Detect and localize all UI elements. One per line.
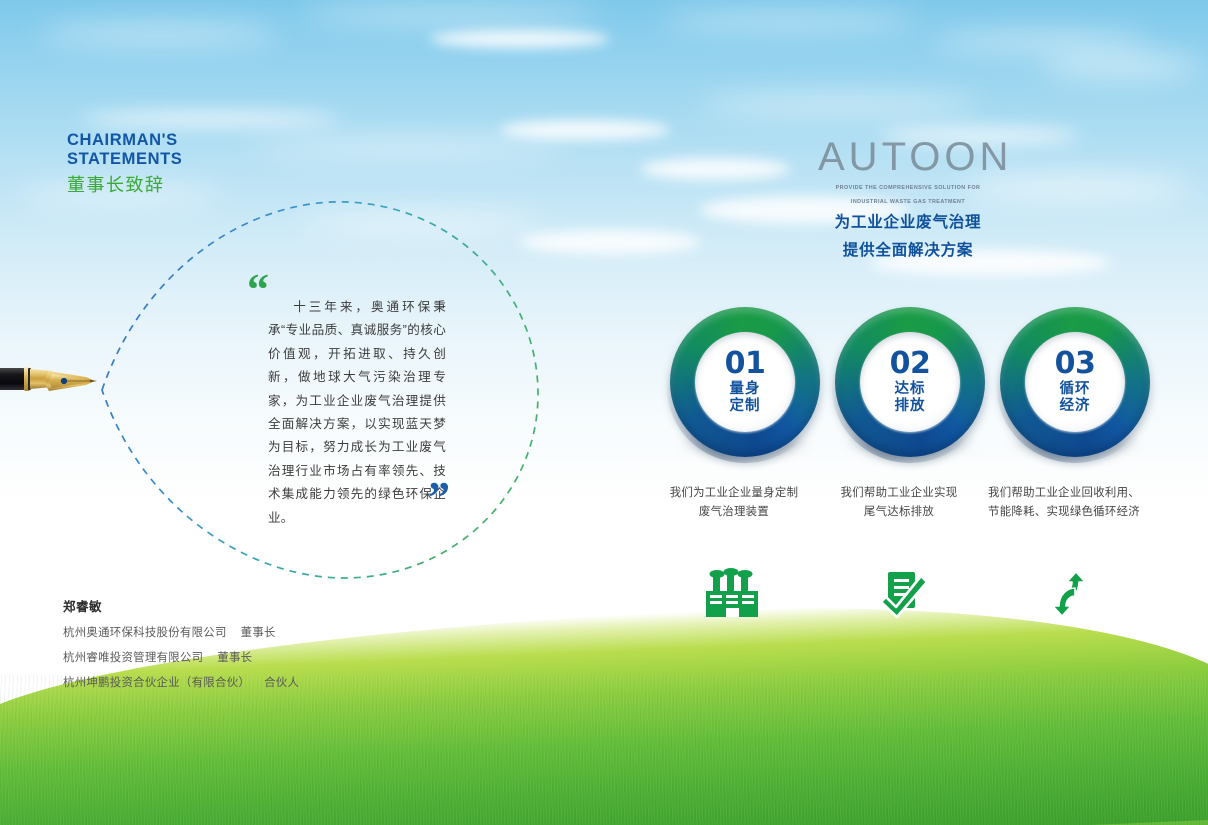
badge-label-line2: 排放 bbox=[895, 398, 926, 415]
badge-core: 03 循环 经济 bbox=[1025, 332, 1125, 432]
badge-label-line1: 循环 bbox=[1060, 381, 1091, 398]
feature-caption-03: 我们帮助工业企业回收利用、 节能降耗、实现绿色循环经济 bbox=[969, 484, 1159, 522]
checklist-check-icon bbox=[873, 566, 937, 622]
quote-close-mark: ” bbox=[428, 476, 450, 520]
factory-icon bbox=[702, 566, 766, 622]
chairman-heading-en-line1: CHAIRMAN'S bbox=[67, 131, 182, 150]
logo-tagline-line2: INDUSTRIAL WASTE GAS TREATMENT bbox=[818, 198, 998, 206]
signature-org: 杭州奥通环保科技股份有限公司 bbox=[63, 627, 227, 639]
caption-line2: 废气治理装置 bbox=[639, 503, 829, 522]
signature-line: 杭州奥通环保科技股份有限公司董事长 bbox=[63, 624, 299, 640]
badge-label-line1: 达标 bbox=[895, 381, 926, 398]
badge-label: 达标 排放 bbox=[895, 381, 926, 415]
feature-badge-01[interactable]: 01 量身 定制 bbox=[665, 305, 825, 465]
feature-badge-02[interactable]: 02 达标 排放 bbox=[830, 305, 990, 465]
recycle-arrows-icon bbox=[1037, 566, 1101, 622]
signatory-name: 郑睿敏 bbox=[63, 596, 299, 615]
signature-line: 杭州坤鹏投资合伙企业（有限合伙）合伙人 bbox=[63, 674, 299, 690]
signature-block: 郑睿敏 杭州奥通环保科技股份有限公司董事长 杭州睿唯投资管理有限公司董事长 杭州… bbox=[63, 596, 299, 690]
chairman-heading: CHAIRMAN'S STATEMENTS 董事长致辞 bbox=[67, 131, 182, 197]
feature-caption-01: 我们为工业企业量身定制 废气治理装置 bbox=[639, 484, 829, 522]
signature-role: 董事长 bbox=[241, 627, 276, 639]
badge-label-line2: 经济 bbox=[1060, 398, 1091, 415]
chairman-quote-body: 十三年来，奥通环保秉承“专业品质、真诚服务”的核心价值观，开拓进取、持久创新，做… bbox=[268, 296, 446, 530]
fountain-pen-nib-icon bbox=[0, 352, 114, 410]
badge-label-line2: 定制 bbox=[730, 398, 761, 415]
brochure-page: CHAIRMAN'S STATEMENTS 董事长致辞 bbox=[0, 0, 1208, 825]
badge-number: 01 bbox=[725, 349, 766, 379]
caption-line2: 尾气达标排放 bbox=[804, 503, 994, 522]
feature-caption-02: 我们帮助工业企业实现 尾气达标排放 bbox=[804, 484, 994, 522]
signature-role: 董事长 bbox=[217, 652, 252, 664]
badge-number: 03 bbox=[1055, 349, 1096, 379]
caption-line1: 我们为工业企业量身定制 bbox=[639, 484, 829, 503]
caption-line1: 我们帮助工业企业实现 bbox=[804, 484, 994, 503]
company-logo-block: AUTOON PROVIDE THE COMPREHENSIVE SOLUTIO… bbox=[818, 136, 998, 261]
quote-open-mark: “ bbox=[247, 268, 269, 312]
badge-label: 量身 定制 bbox=[730, 381, 761, 415]
badge-label-line1: 量身 bbox=[730, 381, 761, 398]
logo-tagline-line1: PROVIDE THE COMPREHENSIVE SOLUTION FOR bbox=[818, 184, 998, 192]
badge-core: 02 达标 排放 bbox=[860, 332, 960, 432]
signature-org: 杭州坤鹏投资合伙企业（有限合伙） bbox=[63, 677, 250, 689]
chairman-quote-text: 十三年来，奥通环保秉承“专业品质、真诚服务”的核心价值观，开拓进取、持久创新，做… bbox=[268, 296, 446, 530]
signature-org: 杭州睿唯投资管理有限公司 bbox=[63, 652, 203, 664]
badge-label: 循环 经济 bbox=[1060, 381, 1091, 415]
feature-badge-row: 01 量身 定制 02 达标 排放 03 bbox=[660, 305, 1160, 480]
caption-line1: 我们帮助工业企业回收利用、 bbox=[969, 484, 1159, 503]
feature-badge-03[interactable]: 03 循环 经济 bbox=[995, 305, 1155, 465]
logo-cn-line2: 提供全面解决方案 bbox=[818, 241, 998, 262]
badge-number: 02 bbox=[890, 349, 931, 379]
logo-cn-line1: 为工业企业废气治理 bbox=[818, 213, 998, 234]
signature-line: 杭州睿唯投资管理有限公司董事长 bbox=[63, 649, 299, 665]
chairman-heading-en-line2: STATEMENTS bbox=[67, 150, 182, 169]
signature-role: 合伙人 bbox=[264, 677, 299, 689]
caption-line2: 节能降耗、实现绿色循环经济 bbox=[969, 503, 1159, 522]
badge-core: 01 量身 定制 bbox=[695, 332, 795, 432]
logo-wordmark: AUTOON bbox=[818, 136, 998, 178]
